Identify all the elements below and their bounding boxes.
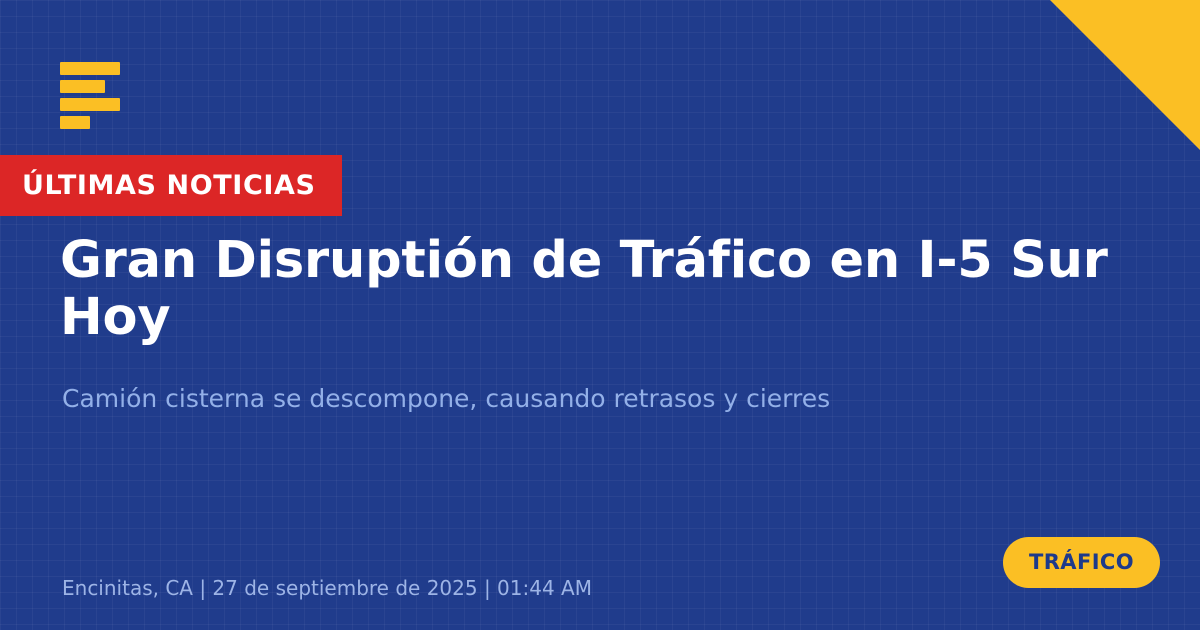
logo-bar-1 bbox=[60, 62, 120, 75]
logo-bar-3 bbox=[60, 98, 120, 111]
corner-accent-triangle bbox=[1050, 0, 1200, 150]
logo-bar-2 bbox=[60, 80, 105, 93]
article-meta: Encinitas, CA | 27 de septiembre de 2025… bbox=[62, 576, 592, 600]
category-badge: TRÁFICO bbox=[1003, 537, 1160, 588]
category-badge-label: TRÁFICO bbox=[1029, 552, 1134, 573]
breaking-news-banner: ÚLTIMAS NOTICIAS bbox=[0, 155, 342, 216]
breaking-news-label: ÚLTIMAS NOTICIAS bbox=[22, 172, 316, 199]
page-title: Gran Disruptión de Tráfico en I-5 Sur Ho… bbox=[60, 232, 1120, 346]
headline-subtitle: Camión cisterna se descompone, causando … bbox=[62, 383, 1062, 414]
news-card: ÚLTIMAS NOTICIAS Gran Disruptión de Tráf… bbox=[0, 0, 1200, 630]
brand-logo bbox=[60, 62, 120, 129]
logo-bar-4 bbox=[60, 116, 90, 129]
